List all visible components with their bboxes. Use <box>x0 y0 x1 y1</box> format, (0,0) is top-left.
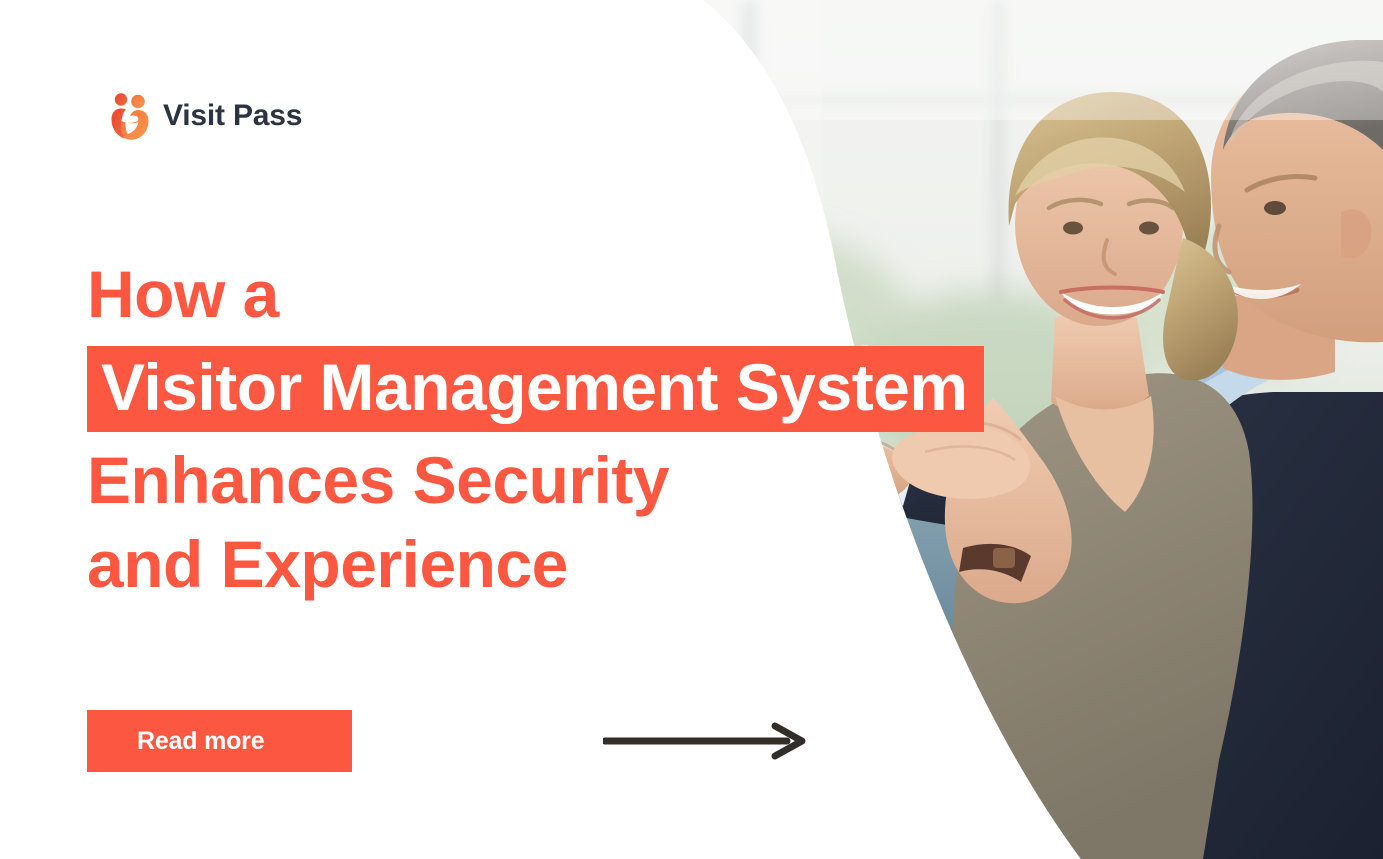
read-more-button[interactable]: Read more <box>87 710 352 772</box>
cta-row: Read more <box>87 710 809 772</box>
next-arrow-link[interactable] <box>603 721 809 761</box>
brand-logo[interactable]: Visit Pass <box>110 92 302 140</box>
hero-banner: Visit Pass How a Visitor Management Syst… <box>0 0 1383 859</box>
headline-line-3: Enhances Security <box>87 443 669 517</box>
two-people-family-icon <box>110 92 150 140</box>
page-title: How a Visitor Management System Enhances… <box>87 252 907 606</box>
brand-name: Visit Pass <box>163 101 302 131</box>
headline-line-4: and Experience <box>87 527 568 601</box>
arrow-right-icon <box>603 721 809 761</box>
headline-line-1: How a <box>87 257 279 331</box>
headline-line-2-highlight: Visitor Management System <box>87 346 984 432</box>
